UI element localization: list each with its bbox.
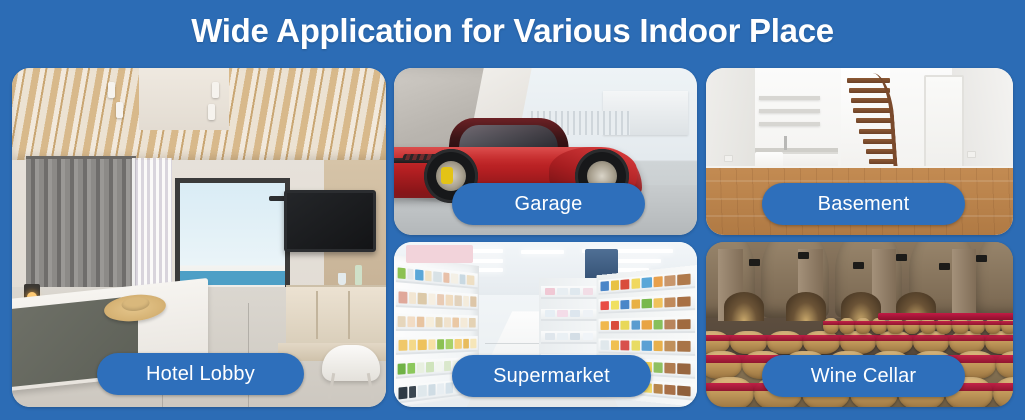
card-label-basement[interactable]: Basement [762, 183, 965, 225]
card-hotel-lobby[interactable]: Hotel Lobby [12, 68, 386, 407]
page-title: Wide Application for Various Indoor Plac… [0, 10, 1025, 52]
card-wine-cellar[interactable]: Wine Cellar [706, 242, 1013, 407]
card-label-hotel-lobby[interactable]: Hotel Lobby [97, 353, 304, 395]
card-label-garage[interactable]: Garage [452, 183, 645, 225]
card-label-wine-cellar[interactable]: Wine Cellar [762, 355, 965, 397]
card-basement[interactable]: Basement [706, 68, 1013, 235]
card-garage[interactable]: Garage [394, 68, 697, 235]
card-label-supermarket[interactable]: Supermarket [452, 355, 651, 397]
card-grid: Hotel Lobby [12, 68, 1013, 407]
indoor-application-banner: Wide Application for Various Indoor Plac… [0, 0, 1025, 420]
card-supermarket[interactable]: Supermarket [394, 242, 697, 407]
